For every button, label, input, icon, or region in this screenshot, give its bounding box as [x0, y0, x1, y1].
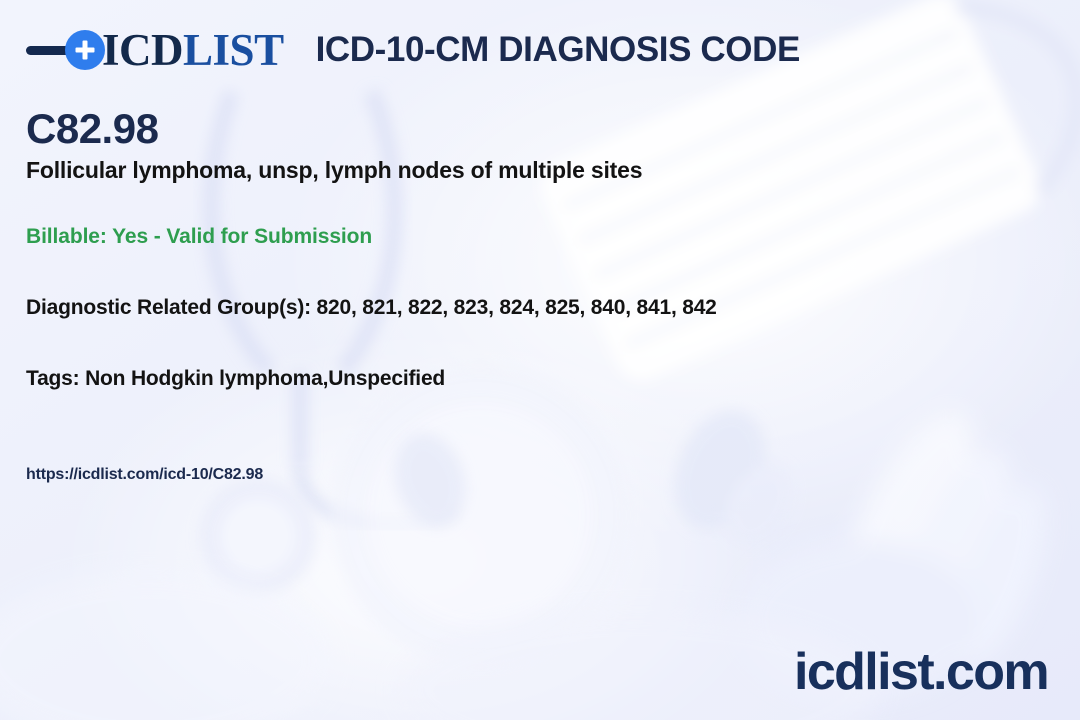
logo-wordmark: ICDLIST	[102, 28, 284, 73]
code-tags: Tags: Non Hodgkin lymphoma,Unspecified	[26, 367, 1036, 391]
source-url[interactable]: https://icdlist.com/icd-10/C82.98	[26, 466, 1036, 484]
logo-text-list: LIST	[183, 25, 284, 75]
icd-code-value: C82.98	[26, 106, 1036, 152]
code-details: C82.98 Follicular lymphoma, unsp, lymph …	[26, 106, 1036, 484]
icdlist-logo[interactable]: ICDLIST	[26, 28, 284, 73]
diagnostic-related-groups: Diagnostic Related Group(s): 820, 821, 8…	[26, 296, 1036, 320]
footer-brand: icdlist.com	[794, 646, 1048, 698]
icd-code-description: Follicular lymphoma, unsp, lymph nodes o…	[26, 156, 1036, 185]
logo-text-icd: ICD	[102, 25, 183, 75]
icd-code-card: ICDLIST ICD-10-CM DIAGNOSIS CODE C82.98 …	[0, 0, 1080, 720]
page-title: ICD-10-CM DIAGNOSIS CODE	[316, 30, 800, 70]
plus-circle-icon	[65, 30, 105, 70]
billable-status: Billable: Yes - Valid for Submission	[26, 225, 1036, 249]
page-header: ICDLIST ICD-10-CM DIAGNOSIS CODE	[0, 0, 1080, 100]
